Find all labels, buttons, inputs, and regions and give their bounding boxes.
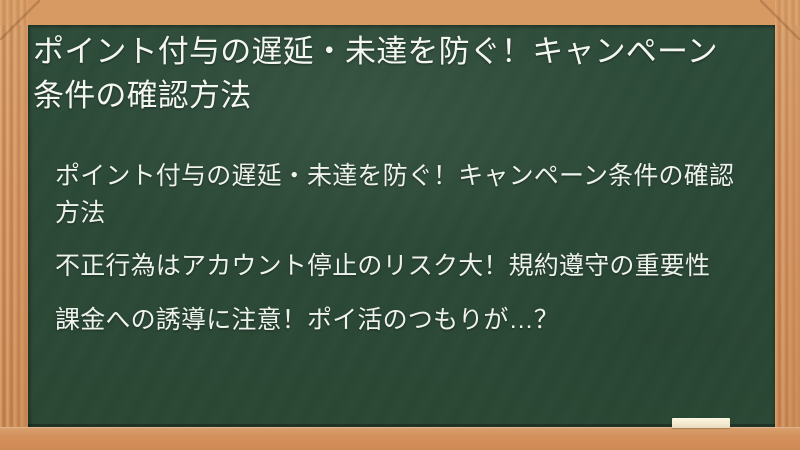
chalkboard-content: ポイント付与の遅延・未達を防ぐ！キャンペーン条件の確認方法 ポイント付与の遅延・… [0, 0, 800, 450]
list-item: 課金への誘導に注意！ポイ活のつもりが…？ [55, 302, 745, 339]
list-item: 不正行為はアカウント停止のリスク大！規約遵守の重要性 [55, 248, 745, 285]
chalk-ledge [0, 427, 800, 450]
page-title: ポイント付与の遅延・未達を防ぐ！キャンペーン条件の確認方法 [33, 30, 733, 118]
list-item: ポイント付与の遅延・未達を防ぐ！キャンペーン条件の確認方法 [55, 158, 745, 231]
chalk-stick-icon [672, 418, 730, 428]
chalkboard-frame: ポイント付与の遅延・未達を防ぐ！キャンペーン条件の確認方法 ポイント付与の遅延・… [0, 0, 800, 450]
topic-list: ポイント付与の遅延・未達を防ぐ！キャンペーン条件の確認方法 不正行為はアカウント… [55, 158, 745, 338]
